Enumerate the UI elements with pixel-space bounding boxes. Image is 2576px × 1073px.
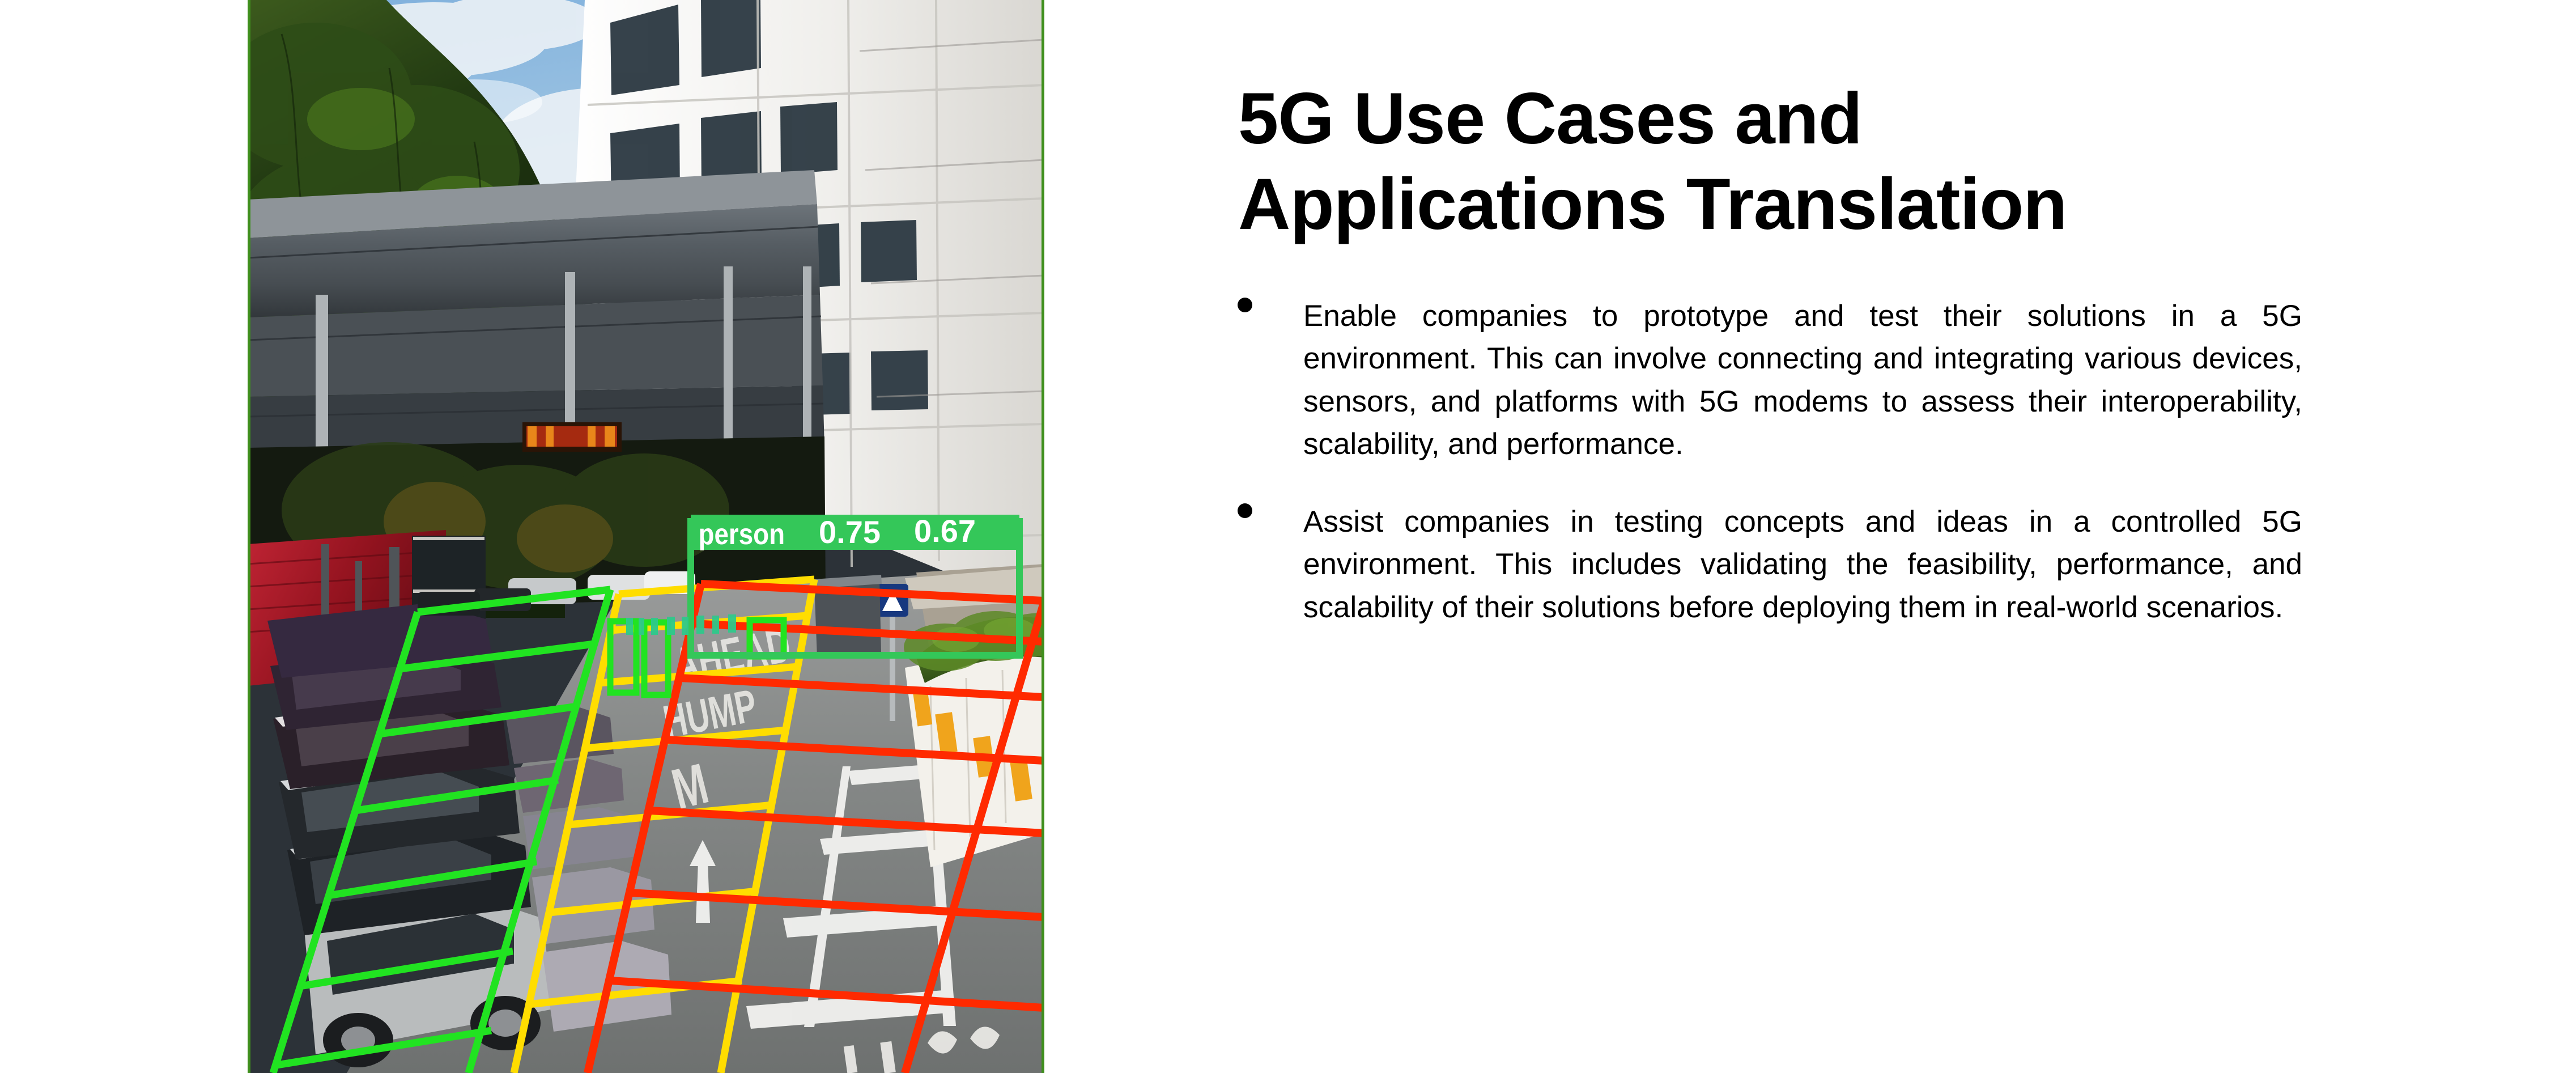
page-title: 5G Use Cases and Applications Translatio… [1238, 76, 2301, 247]
image-left-border [248, 0, 250, 1073]
svg-text:0.75: 0.75 [819, 514, 881, 550]
detection-image-canvas: AHEAD HUMP M [248, 0, 1044, 1073]
bullet-point-icon [1238, 503, 1252, 518]
bullet-point-icon [1238, 298, 1252, 312]
svg-text:person: person [699, 518, 785, 550]
detection-image: AHEAD HUMP M [248, 0, 1044, 1073]
page-title-line-1: 5G Use Cases and [1238, 76, 2301, 162]
bullet-text: Assist companies in testing concepts and… [1303, 501, 2302, 629]
slide-text-column: 5G Use Cases and Applications Translatio… [1234, 0, 2302, 1073]
bullet-text: Enable companies to prototype and test t… [1303, 295, 2302, 465]
detection-label-text: person 0.75 0.67 [699, 513, 976, 551]
bullet-list: Enable companies to prototype and test t… [1234, 295, 2302, 664]
svg-text:0.67: 0.67 [914, 513, 976, 549]
list-item: Assist companies in testing concepts and… [1234, 501, 2302, 629]
page-title-line-2: Applications Translation [1238, 162, 2301, 247]
list-item: Enable companies to prototype and test t… [1234, 295, 2302, 465]
image-right-border [1042, 0, 1044, 1073]
